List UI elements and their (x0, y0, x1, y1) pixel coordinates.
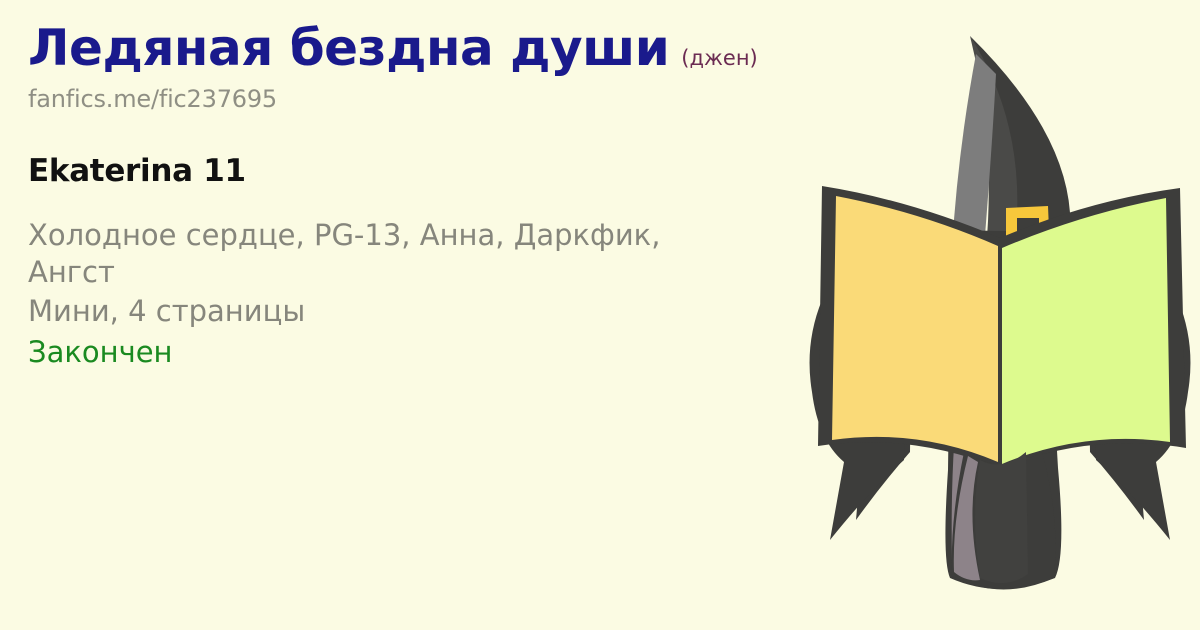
status-badge: Закончен (28, 334, 818, 371)
witch-robe-lower (952, 452, 1056, 590)
author-name[interactable]: Ekaterina 11 (28, 153, 818, 189)
witch-reading-book-illustration (800, 0, 1200, 630)
page-title: Ледяная бездна души (28, 22, 669, 75)
fic-size: Мини, 4 страницы (28, 293, 718, 330)
book-left-page (832, 196, 998, 462)
fic-tags: Холодное сердце, PG-13, Анна, Даркфик, А… (28, 217, 718, 291)
witch-illustration-svg (800, 0, 1200, 630)
book-right-page (1002, 198, 1170, 464)
title-line: Ледяная бездна души (джен) (28, 22, 818, 75)
text-column: Ледяная бездна души (джен) fanfics.me/fi… (28, 22, 818, 371)
preview-card: Ледяная бездна души (джен) fanfics.me/fi… (0, 0, 1200, 630)
fic-url[interactable]: fanfics.me/fic237695 (28, 85, 818, 113)
fic-category-label: (джен) (681, 47, 757, 69)
meta-block: Холодное сердце, PG-13, Анна, Даркфик, А… (28, 217, 818, 371)
